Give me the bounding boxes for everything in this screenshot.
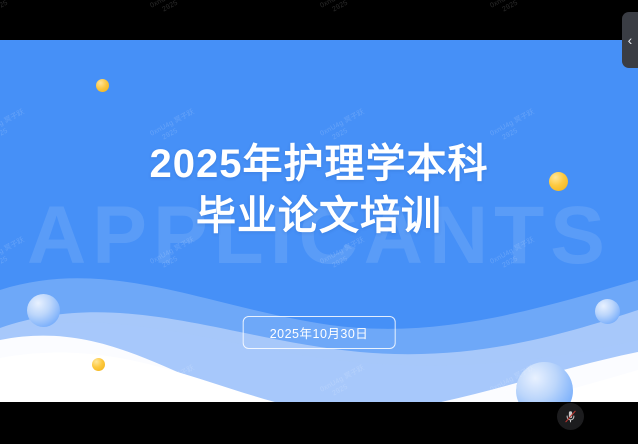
slide-title-block: 2025年护理学本科 毕业论文培训 <box>0 138 638 242</box>
slide-canvas[interactable]: APPLICANTS 2025年护理学本科 毕业论文培训 2025年10月30日 <box>0 40 638 402</box>
slide-date-badge: 2025年10月30日 <box>243 316 396 349</box>
decor-sphere-blue-small-right <box>595 299 620 324</box>
microphone-muted-icon <box>563 409 578 424</box>
watermark-text: 0xnU4g 冥子跃2925 <box>0 0 30 18</box>
slide-title-line-1: 2025年护理学本科 <box>0 138 638 190</box>
collapse-panel-tab[interactable]: ‹ <box>622 12 638 68</box>
watermark-text: 0xnU4g 冥子跃2925 <box>149 0 201 18</box>
decor-sphere-gold-top <box>96 79 109 92</box>
watermark-text: 0xnU4g 冥子跃2925 <box>319 0 371 18</box>
presentation-viewer: APPLICANTS 2025年护理学本科 毕业论文培训 2025年10月30日 <box>0 0 638 444</box>
watermark-text: 0xnU4g 冥子跃2925 <box>489 0 541 18</box>
decor-sphere-blue-left <box>27 294 60 327</box>
slide-title-line-2: 毕业论文培训 <box>0 190 638 242</box>
microphone-mute-button[interactable] <box>557 403 584 430</box>
chevron-left-icon: ‹ <box>628 33 633 47</box>
decor-sphere-gold-bottom <box>92 358 105 371</box>
